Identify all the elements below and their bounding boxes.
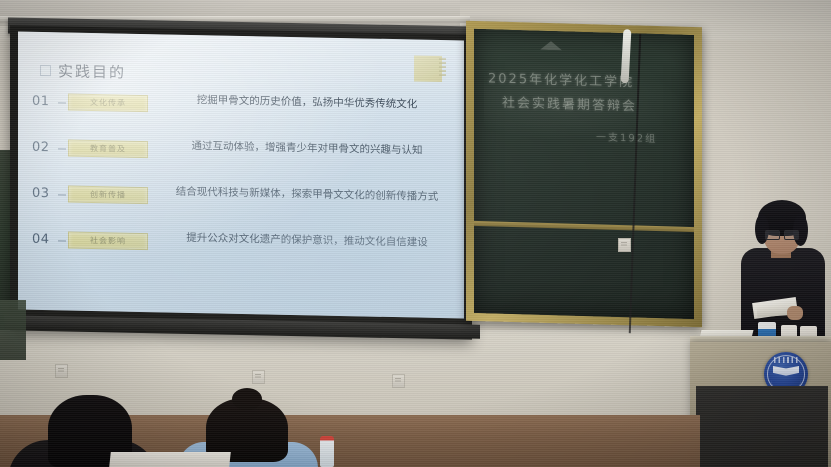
presentation-slide: 实践目的 01 文化传承 挖掘甲骨文的历史价值，弘扬中华优秀传统文化 02 教育… (18, 32, 464, 319)
blackboard-surface: 2025年化学化工学院 社会实践暑期答辩会 一支192组 (474, 29, 694, 319)
goal-item: 04 社会影响 提升公众对文化遗产的保护意识，推动文化自信建设 (32, 228, 452, 274)
goal-number: 01 (32, 90, 58, 110)
goal-list: 01 文化传承 挖掘甲骨文的历史价值，弘扬中华优秀传统文化 02 教育普及 通过… (32, 90, 452, 282)
emblem-stars (774, 357, 798, 363)
goal-text: 结合现代科技与新媒体，探索甲骨文文化的创新传播方式 (162, 184, 452, 205)
goal-item: 01 文化传承 挖掘甲骨文的历史价值，弘扬中华优秀传统文化 (32, 90, 452, 136)
slide-title-row: 实践目的 (40, 60, 126, 83)
goal-dash (58, 240, 66, 242)
goal-number: 04 (32, 228, 58, 248)
chalk-line-1: 2025年化学化工学院 (488, 67, 634, 90)
wall-socket (252, 370, 265, 384)
water-bottle (320, 436, 334, 467)
goal-number: 03 (32, 182, 58, 202)
goal-number: 02 (32, 136, 58, 156)
audience-member-center-hair-bun (232, 388, 262, 410)
classroom-photo: 实践目的 01 文化传承 挖掘甲骨文的历史价值，弘扬中华优秀传统文化 02 教育… (0, 0, 831, 467)
goal-tag: 创新传播 (68, 186, 148, 205)
presenter-hand (787, 306, 803, 320)
goal-dash (58, 102, 66, 104)
wall-socket (618, 238, 631, 252)
goal-tag: 文化传承 (68, 94, 148, 113)
goal-tag: 社会影响 (68, 232, 148, 251)
foreground-object-left (0, 300, 26, 360)
goal-text: 通过互动体验，增强青少年对甲骨文的兴趣与认知 (162, 138, 452, 159)
goal-tag: 教育普及 (68, 140, 148, 159)
podium (690, 342, 831, 467)
audience-papers (109, 452, 231, 467)
note-decoration-icon (414, 55, 442, 82)
blackboard-divider (474, 221, 694, 232)
wall-socket (392, 374, 405, 388)
goal-dash (58, 148, 66, 150)
board-clip-icon (540, 41, 562, 51)
square-bullet-icon (40, 65, 51, 76)
goal-item: 02 教育普及 通过互动体验，增强青少年对甲骨文的兴趣与认知 (32, 136, 452, 182)
goal-item: 03 创新传播 结合现代科技与新媒体，探索甲骨文文化的创新传播方式 (32, 182, 452, 228)
podium-front-panel (696, 386, 828, 467)
chalk-line-2: 社会实践暑期答辩会 (502, 92, 637, 115)
goal-text: 挖掘甲骨文的历史价值，弘扬中华优秀传统文化 (162, 92, 452, 113)
goal-dash (58, 194, 66, 196)
chalk-line-3: 一支192组 (596, 128, 657, 145)
projector-screen-surface: 实践目的 01 文化传承 挖掘甲骨文的历史价值，弘扬中华优秀传统文化 02 教育… (18, 32, 464, 319)
goal-text: 提升公众对文化遗产的保护意识，推动文化自信建设 (162, 230, 452, 251)
wall-socket (55, 364, 68, 378)
glasses-icon (765, 230, 799, 238)
slide-title: 实践目的 (58, 60, 126, 82)
blackboard-frame: 2025年化学化工学院 社会实践暑期答辩会 一支192组 (466, 21, 702, 328)
